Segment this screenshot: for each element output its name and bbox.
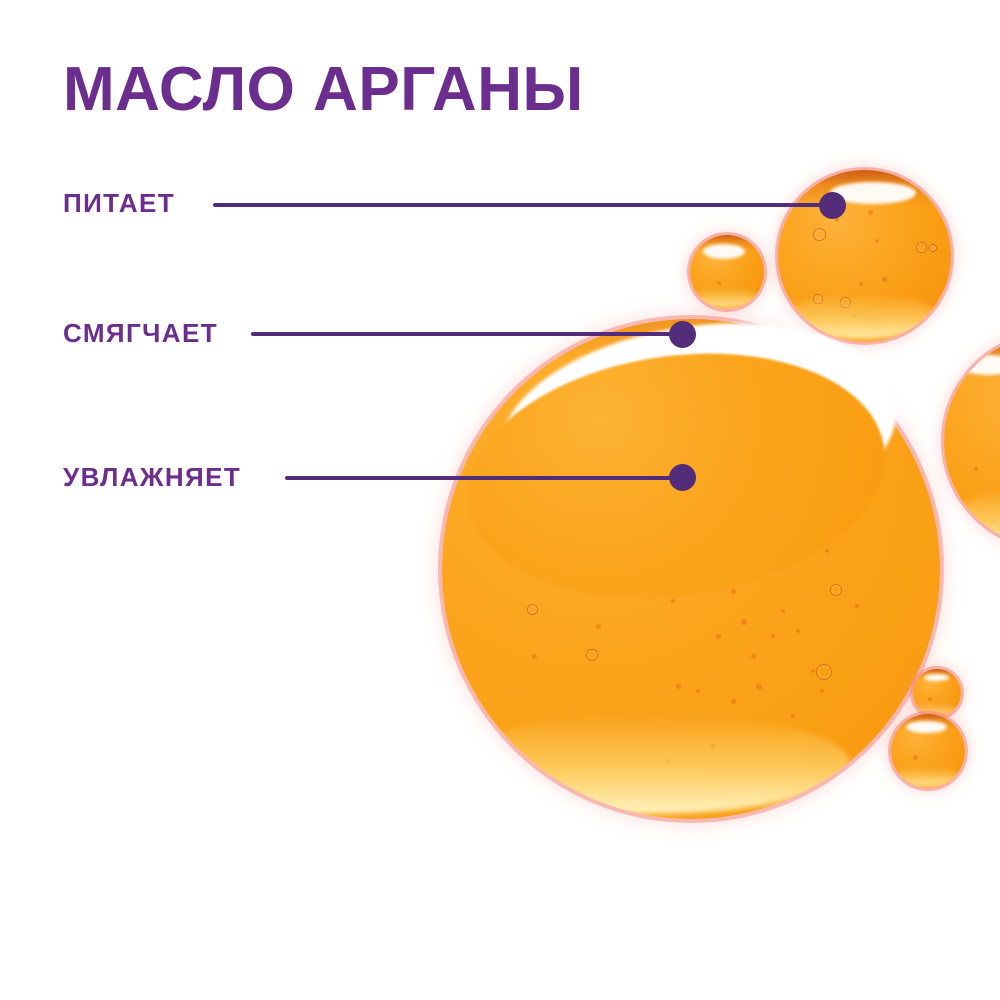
oil-bubble (731, 699, 736, 704)
right-edge-droplet (944, 334, 1000, 548)
oil-bubble (882, 277, 887, 282)
top-right-droplet (778, 170, 951, 342)
oil-bubble (913, 755, 918, 760)
oil-bubble (711, 744, 715, 748)
droplet-highlight (906, 721, 947, 734)
oil-bubble (671, 419, 676, 424)
oil-bubble (671, 599, 675, 603)
callout-line-softens (251, 332, 675, 336)
droplet-highlight (924, 674, 949, 682)
callout-label-nourishes: ПИТАЕТ (63, 188, 175, 219)
oil-bubble (736, 549, 740, 553)
oil-bubble (875, 239, 879, 243)
oil-bubble (813, 294, 823, 304)
oil-bubble (716, 414, 721, 419)
oil-bubble (681, 524, 686, 529)
oil-bubble (855, 604, 859, 608)
oil-bubble (840, 519, 844, 523)
product-graphic-canvas: МАСЛО АРГАНЫ ПИТАЕТ СМЯГЧАЕТ УВЛАЖНЯЕТ (0, 0, 1000, 1000)
oil-bubble (611, 399, 617, 405)
oil-bubble (974, 467, 978, 471)
oil-bubble (676, 554, 682, 560)
page-title: МАСЛО АРГАНЫ (63, 57, 584, 122)
oil-bubble (651, 469, 655, 473)
droplet-highlight (703, 244, 744, 259)
oil-bubble (868, 210, 873, 215)
oil-bubble (796, 629, 800, 633)
oil-bubble (631, 419, 636, 424)
oil-bubble (542, 569, 551, 578)
callout-dot-moisturizes (669, 464, 696, 491)
oil-bubble (751, 654, 756, 659)
callout-label-softens: СМЯГЧАЕТ (63, 318, 218, 349)
oil-bubble (929, 244, 937, 252)
oil-bubble (756, 684, 762, 690)
oil-bubble (716, 634, 721, 639)
oil-bubble (676, 684, 681, 689)
oil-bubble (586, 649, 598, 661)
oil-bubble (928, 697, 932, 701)
oil-bubble (621, 484, 625, 488)
callout-dot-softens (669, 321, 696, 348)
oil-bubble (507, 519, 511, 523)
callout-line-moisturizes (285, 476, 675, 480)
oil-bubble (717, 281, 721, 285)
main-droplet (442, 319, 940, 819)
oil-bubble (811, 669, 815, 673)
callout-label-moisturizes: УВЛАЖНЯЕТ (63, 462, 241, 493)
oil-bubble (820, 689, 824, 693)
oil-bubble (916, 242, 927, 253)
oil-bubble (666, 759, 670, 763)
callout-dot-nourishes (819, 192, 846, 219)
oil-bubble (991, 522, 1000, 531)
oil-bubble (830, 584, 842, 596)
oil-bubble (791, 714, 795, 718)
oil-bubble (706, 424, 710, 428)
oil-bubble (781, 609, 785, 613)
droplet-highlight (957, 355, 1000, 374)
oil-bubble (859, 282, 863, 286)
oil-bubble (816, 664, 832, 680)
oil-bubble (731, 589, 736, 594)
oil-bubble (696, 689, 700, 693)
bottom-right-small-droplet (891, 714, 965, 788)
oil-bubble (813, 228, 826, 241)
oil-bubble (771, 634, 775, 638)
oil-bubble (825, 549, 829, 553)
oil-bubble (835, 218, 839, 222)
oil-bubble (532, 654, 537, 659)
callout-line-nourishes (213, 203, 823, 207)
small-top-droplet (690, 235, 764, 309)
bottom-right-tiny-droplet (913, 669, 961, 717)
oil-bubble (840, 297, 851, 308)
oil-bubble (562, 584, 566, 588)
oil-bubble (527, 604, 538, 615)
oil-bubble (581, 539, 586, 544)
oil-bubble (596, 624, 601, 629)
oil-bubble (741, 619, 747, 625)
oil-bubble (852, 314, 856, 318)
